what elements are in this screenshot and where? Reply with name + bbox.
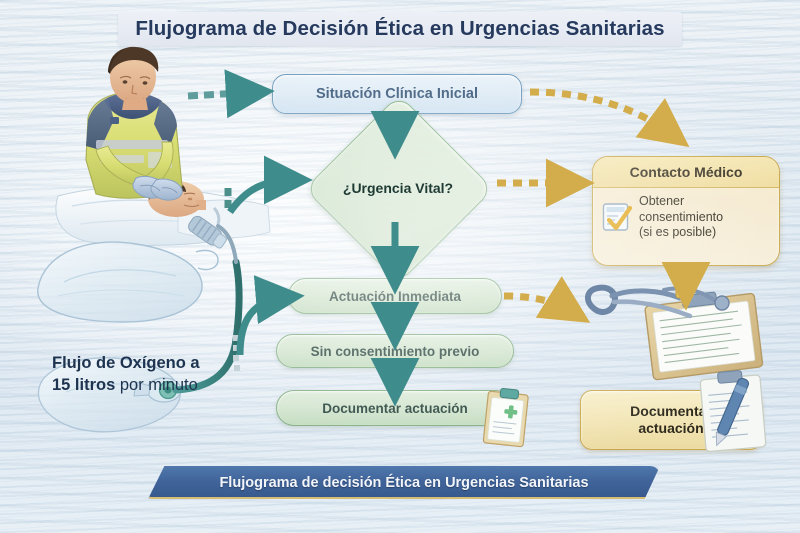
edge-paramedic-to-start — [188, 92, 258, 96]
flow-arrows-layer — [0, 0, 800, 533]
bottom-banner-text: Flujograma de decisión Ética en Urgencia… — [148, 466, 660, 499]
oxygen-caption-line2-bold: 15 litros — [52, 376, 115, 394]
oxygen-caption-line2-normal: por minuto — [115, 376, 198, 394]
oxygen-caption-line1: Flujo de Oxígeno a — [52, 352, 262, 374]
node-decision-label: ¿Urgencia Vital? — [305, 170, 491, 206]
edge-oxygen-to-action — [240, 297, 288, 355]
edge-start-to-contact — [530, 92, 676, 137]
page-title: Flujograma de Decisión Ética en Urgencia… — [118, 12, 682, 46]
edge-action-to-clipboard — [504, 296, 576, 314]
edge-oxygen-to-decision — [230, 180, 296, 212]
page-title-text: Flujograma de Decisión Ética en Urgencia… — [135, 17, 664, 41]
infographic-canvas: Flujograma de Decisión Ética en Urgencia… — [0, 0, 800, 533]
oxygen-flow-caption: Flujo de Oxígeno a 15 litros por minuto — [52, 352, 262, 396]
bottom-banner: Flujograma de decisión Ética en Urgencia… — [148, 466, 660, 499]
